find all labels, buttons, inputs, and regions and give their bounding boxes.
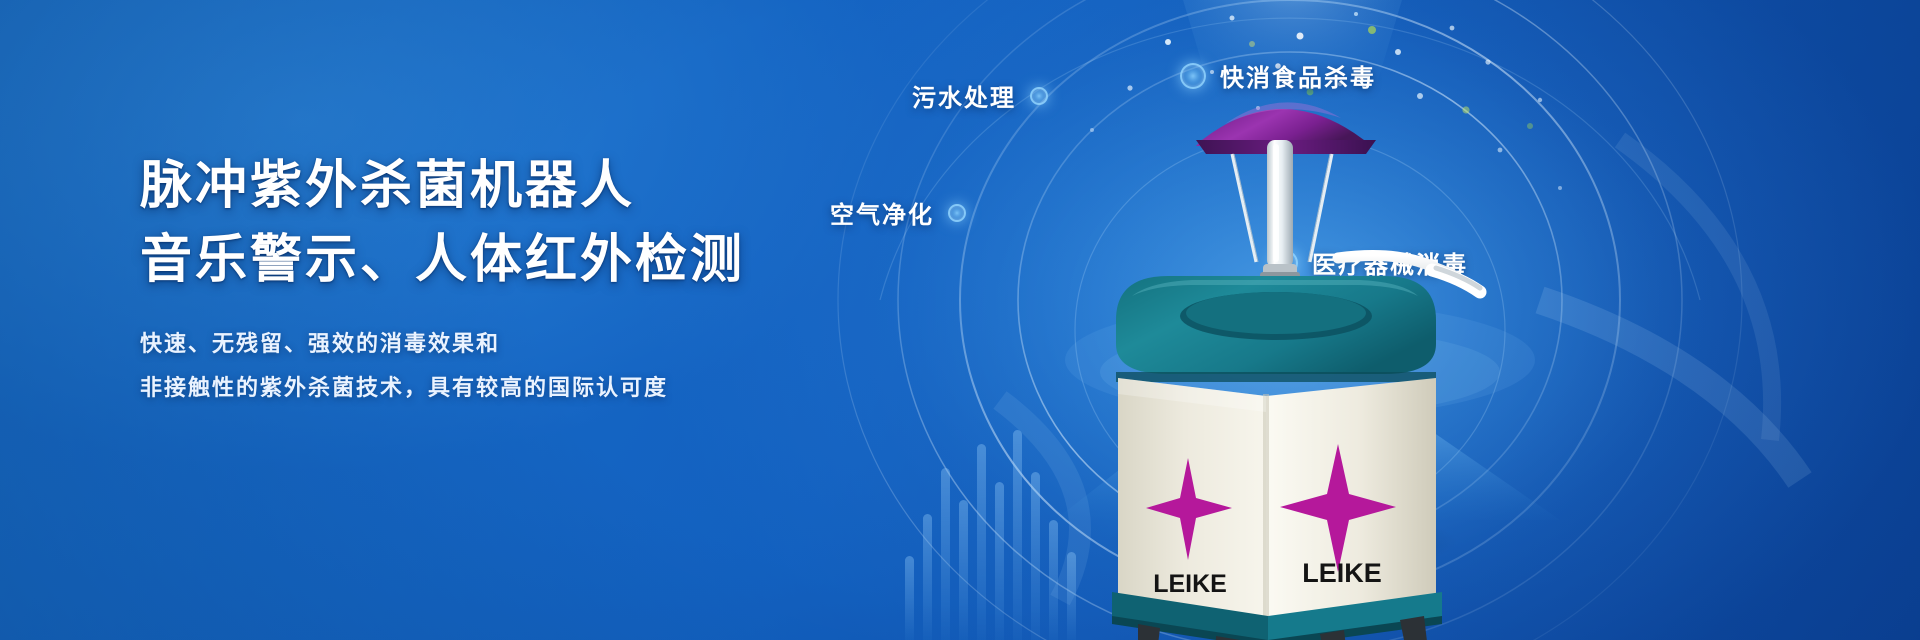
callout-label: 污水处理: [912, 78, 1016, 113]
body-line-2: 非接触性的紫外杀菌技术，具有较高的国际认可度: [140, 366, 900, 410]
callout-label: 空气净化: [830, 195, 934, 230]
uv-disinfection-robot: LEIKE LEIKE: [1020, 20, 1540, 640]
body-line-1: 快速、无残留、强效的消毒效果和: [140, 322, 900, 366]
headline-line-1: 脉冲紫外杀菌机器人: [140, 150, 900, 224]
callout-marker-icon: [948, 204, 966, 222]
device-top-deck: [1116, 276, 1436, 382]
brand-text-left: LEIKE: [1153, 570, 1227, 598]
brand-text-right: LEIKE: [1302, 558, 1382, 588]
hero-copy: 脉冲紫外杀菌机器人 音乐警示、人体红外检测 快速、无残留、强效的消毒效果和 非接…: [140, 150, 900, 410]
callout-air-purification[interactable]: 空气净化: [830, 195, 966, 230]
headline-line-2: 音乐警示、人体红外检测: [140, 224, 900, 298]
hero-banner: 脉冲紫外杀菌机器人 音乐警示、人体红外检测 快速、无残留、强效的消毒效果和 非接…: [0, 0, 1920, 640]
